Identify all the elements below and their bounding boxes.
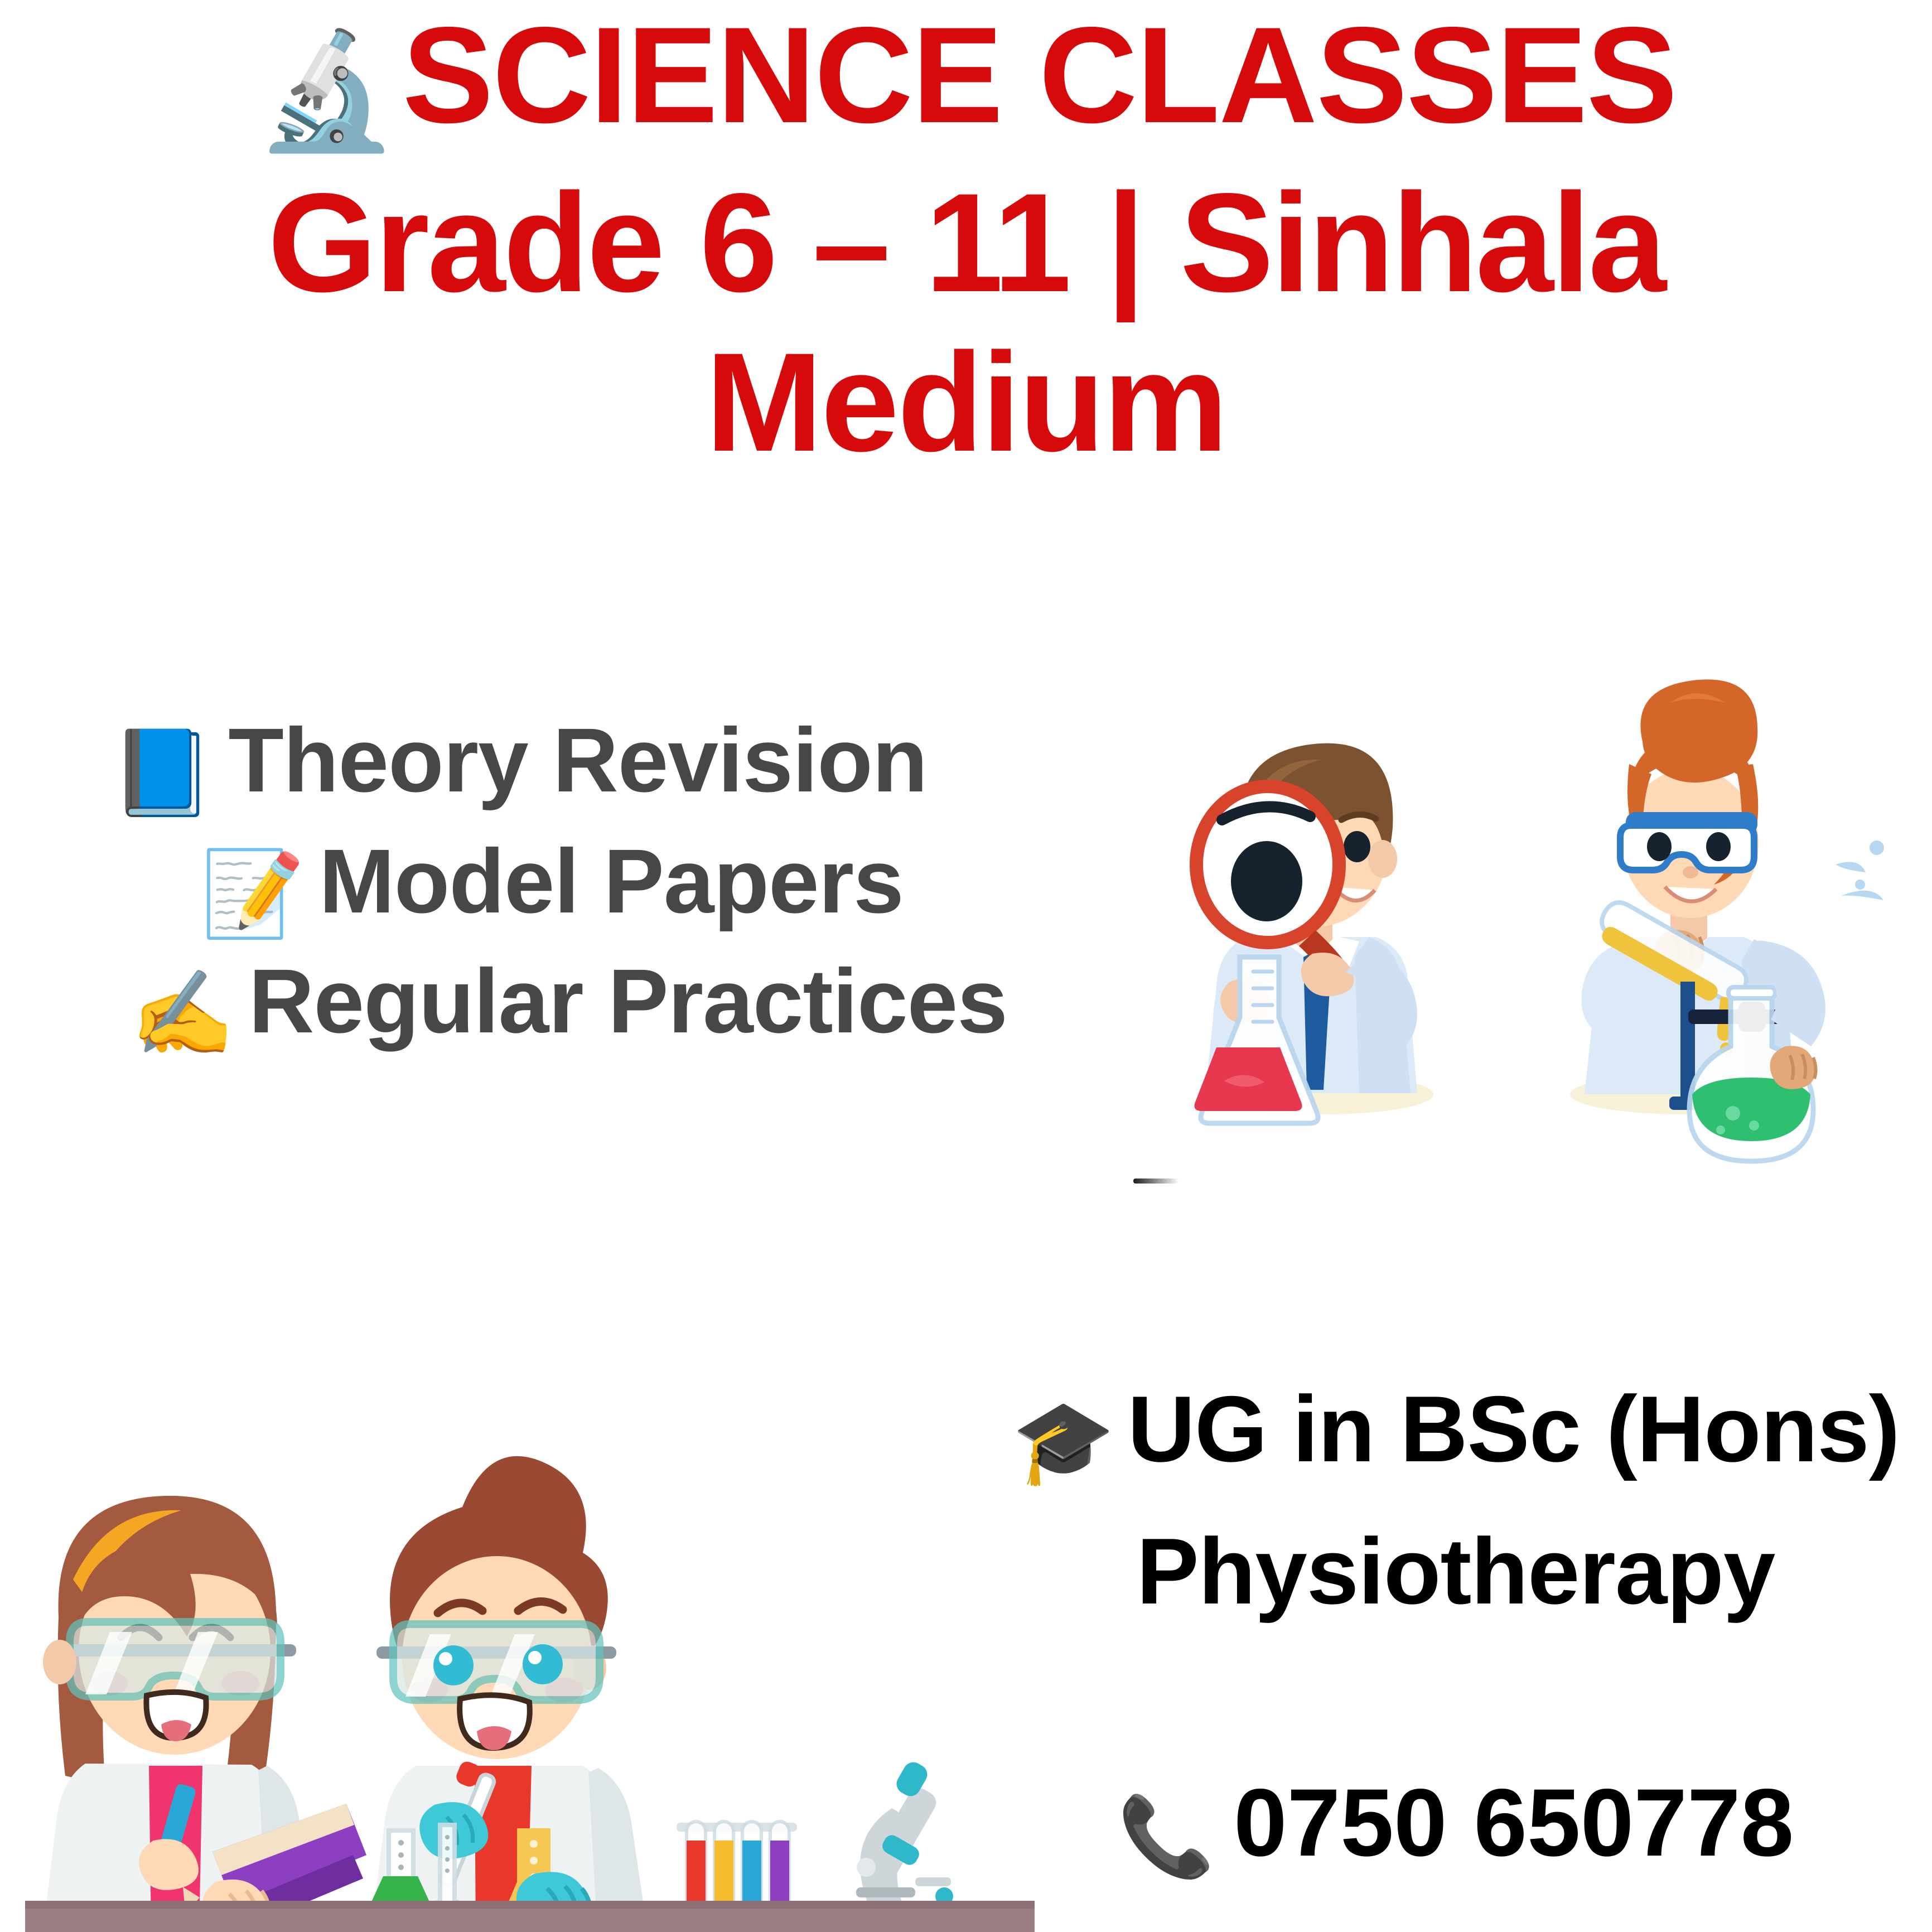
boy-kid-eye-right bbox=[523, 1644, 563, 1684]
memo-icon: 📝 bbox=[201, 847, 305, 940]
two-kids-science-bench-illustration bbox=[25, 1450, 1035, 1932]
boy-kid-eye-left bbox=[433, 1645, 474, 1685]
bubble-2 bbox=[1749, 1120, 1759, 1131]
telephone-receiver-icon: 📞 bbox=[1118, 1793, 1215, 1880]
credentials-block: 🎓UG in BSc (Hons) Physiotherapy bbox=[993, 1358, 1919, 1643]
blue-book-icon: 📘 bbox=[110, 726, 214, 819]
credential-line-degree: 🎓UG in BSc (Hons) bbox=[993, 1358, 1919, 1500]
lab-bench-edge bbox=[25, 1901, 1035, 1909]
boy-kid-goggles bbox=[376, 1624, 616, 1700]
credential-text-degree: UG in BSc (Hons) bbox=[1128, 1376, 1900, 1481]
conical-flask-dots bbox=[398, 1840, 404, 1870]
two-lab-scientists-illustration bbox=[1107, 625, 1899, 1216]
girl-eye-left bbox=[1647, 832, 1672, 861]
magnified-eye-iris bbox=[1231, 841, 1302, 921]
feature-item-regular-practices: ✍️Regular Practices bbox=[45, 942, 1026, 1060]
girl-scientist bbox=[1581, 679, 1884, 1161]
contact-phone-row[interactable]: 📞0750 650778 bbox=[993, 1765, 1919, 1880]
poster-header: 🔬SCIENCE CLASSES Grade 6 – 11 | Sinhala … bbox=[0, 6, 1932, 479]
microscope-focus-knob bbox=[857, 1858, 876, 1877]
stray-artifact-mark bbox=[1133, 1178, 1179, 1184]
boy-scientist bbox=[1195, 743, 1418, 1123]
title-text-science-classes: SCIENCE CLASSES bbox=[402, 0, 1676, 151]
writing-hand-icon: ✍️ bbox=[131, 967, 234, 1060]
bubble-3 bbox=[1716, 1126, 1725, 1134]
poster-title-line-1: 🔬SCIENCE CLASSES bbox=[0, 6, 1932, 148]
credential-line-field: Physiotherapy bbox=[993, 1500, 1919, 1643]
feature-label-model-papers: Model Papers bbox=[319, 830, 904, 932]
girl-eye-right bbox=[1706, 832, 1731, 861]
features-list: 📘Theory Revision 📝Model Papers ✍️Regular… bbox=[45, 700, 1026, 1060]
girl-nose bbox=[1683, 866, 1698, 878]
contact-phone-number[interactable]: 0750 650778 bbox=[1234, 1769, 1794, 1876]
poster-title-line-2: Grade 6 – 11 | Sinhala bbox=[0, 160, 1932, 326]
poster-title-line-3: Medium bbox=[0, 327, 1932, 479]
feature-item-model-papers: 📝Model Papers bbox=[45, 821, 1026, 942]
girl-kid-ear bbox=[43, 1640, 76, 1684]
water-splash-decoration bbox=[1836, 841, 1884, 900]
feature-item-theory-revision: 📘Theory Revision bbox=[45, 700, 1026, 821]
science-classes-poster: 🔬SCIENCE CLASSES Grade 6 – 11 | Sinhala … bbox=[0, 0, 1932, 1932]
boy-eye-right bbox=[1344, 831, 1370, 862]
kid-girl bbox=[43, 1496, 366, 1932]
bubble-1 bbox=[1726, 1106, 1740, 1120]
feature-label-theory-revision: Theory Revision bbox=[228, 709, 927, 811]
contact-block[interactable]: 📞0750 650778 bbox=[993, 1765, 1919, 1880]
feature-label-regular-practices: Regular Practices bbox=[249, 950, 1007, 1052]
microscope-icon: 🔬 bbox=[255, 27, 397, 154]
boy-ear bbox=[1368, 840, 1397, 878]
